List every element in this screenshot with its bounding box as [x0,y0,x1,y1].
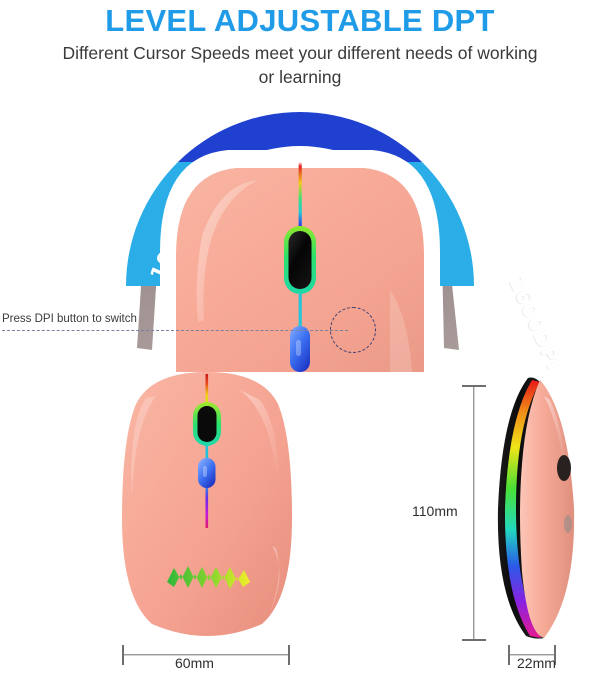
rgb-strip-upper [299,162,302,232]
mouse-top-view [150,140,450,376]
dimension-cap-right [288,645,290,665]
page-title: LEVEL ADJUSTABLE DPT [0,4,600,38]
scroll-wheel[interactable] [198,406,217,442]
scroll-wheel [557,455,571,481]
dimension-bar [473,385,474,641]
dpi-callout-leader-line [2,330,348,331]
dimension-cap-left [508,645,510,665]
dpi-button [564,515,572,533]
dimension-cap-bottom [462,639,486,641]
mouse-front-view [112,368,302,640]
page-subtitle: Different Cursor Speeds meet your differ… [60,41,540,89]
dimension-label-thickness: 22mm [517,655,556,671]
dimension-cap-left [122,645,124,665]
scroll-wheel[interactable] [289,231,312,289]
infographic-canvas: LEVEL ADJUSTABLE DPT Different Cursor Sp… [0,0,600,683]
rgb-strip-lower [206,486,209,528]
dimension-label-height: 110mm [412,503,458,519]
dpi-callout-label: Press DPI button to switch [2,313,137,325]
dimension-label-width: 60mm [175,655,214,671]
dpi-button-gloss [296,340,301,356]
mouse-side-view [492,372,588,644]
dimension-cap-top [462,385,486,387]
dpi-button-highlight-circle [330,307,376,353]
dpi-button-gloss [203,466,207,477]
dimension-line-height [462,385,486,641]
